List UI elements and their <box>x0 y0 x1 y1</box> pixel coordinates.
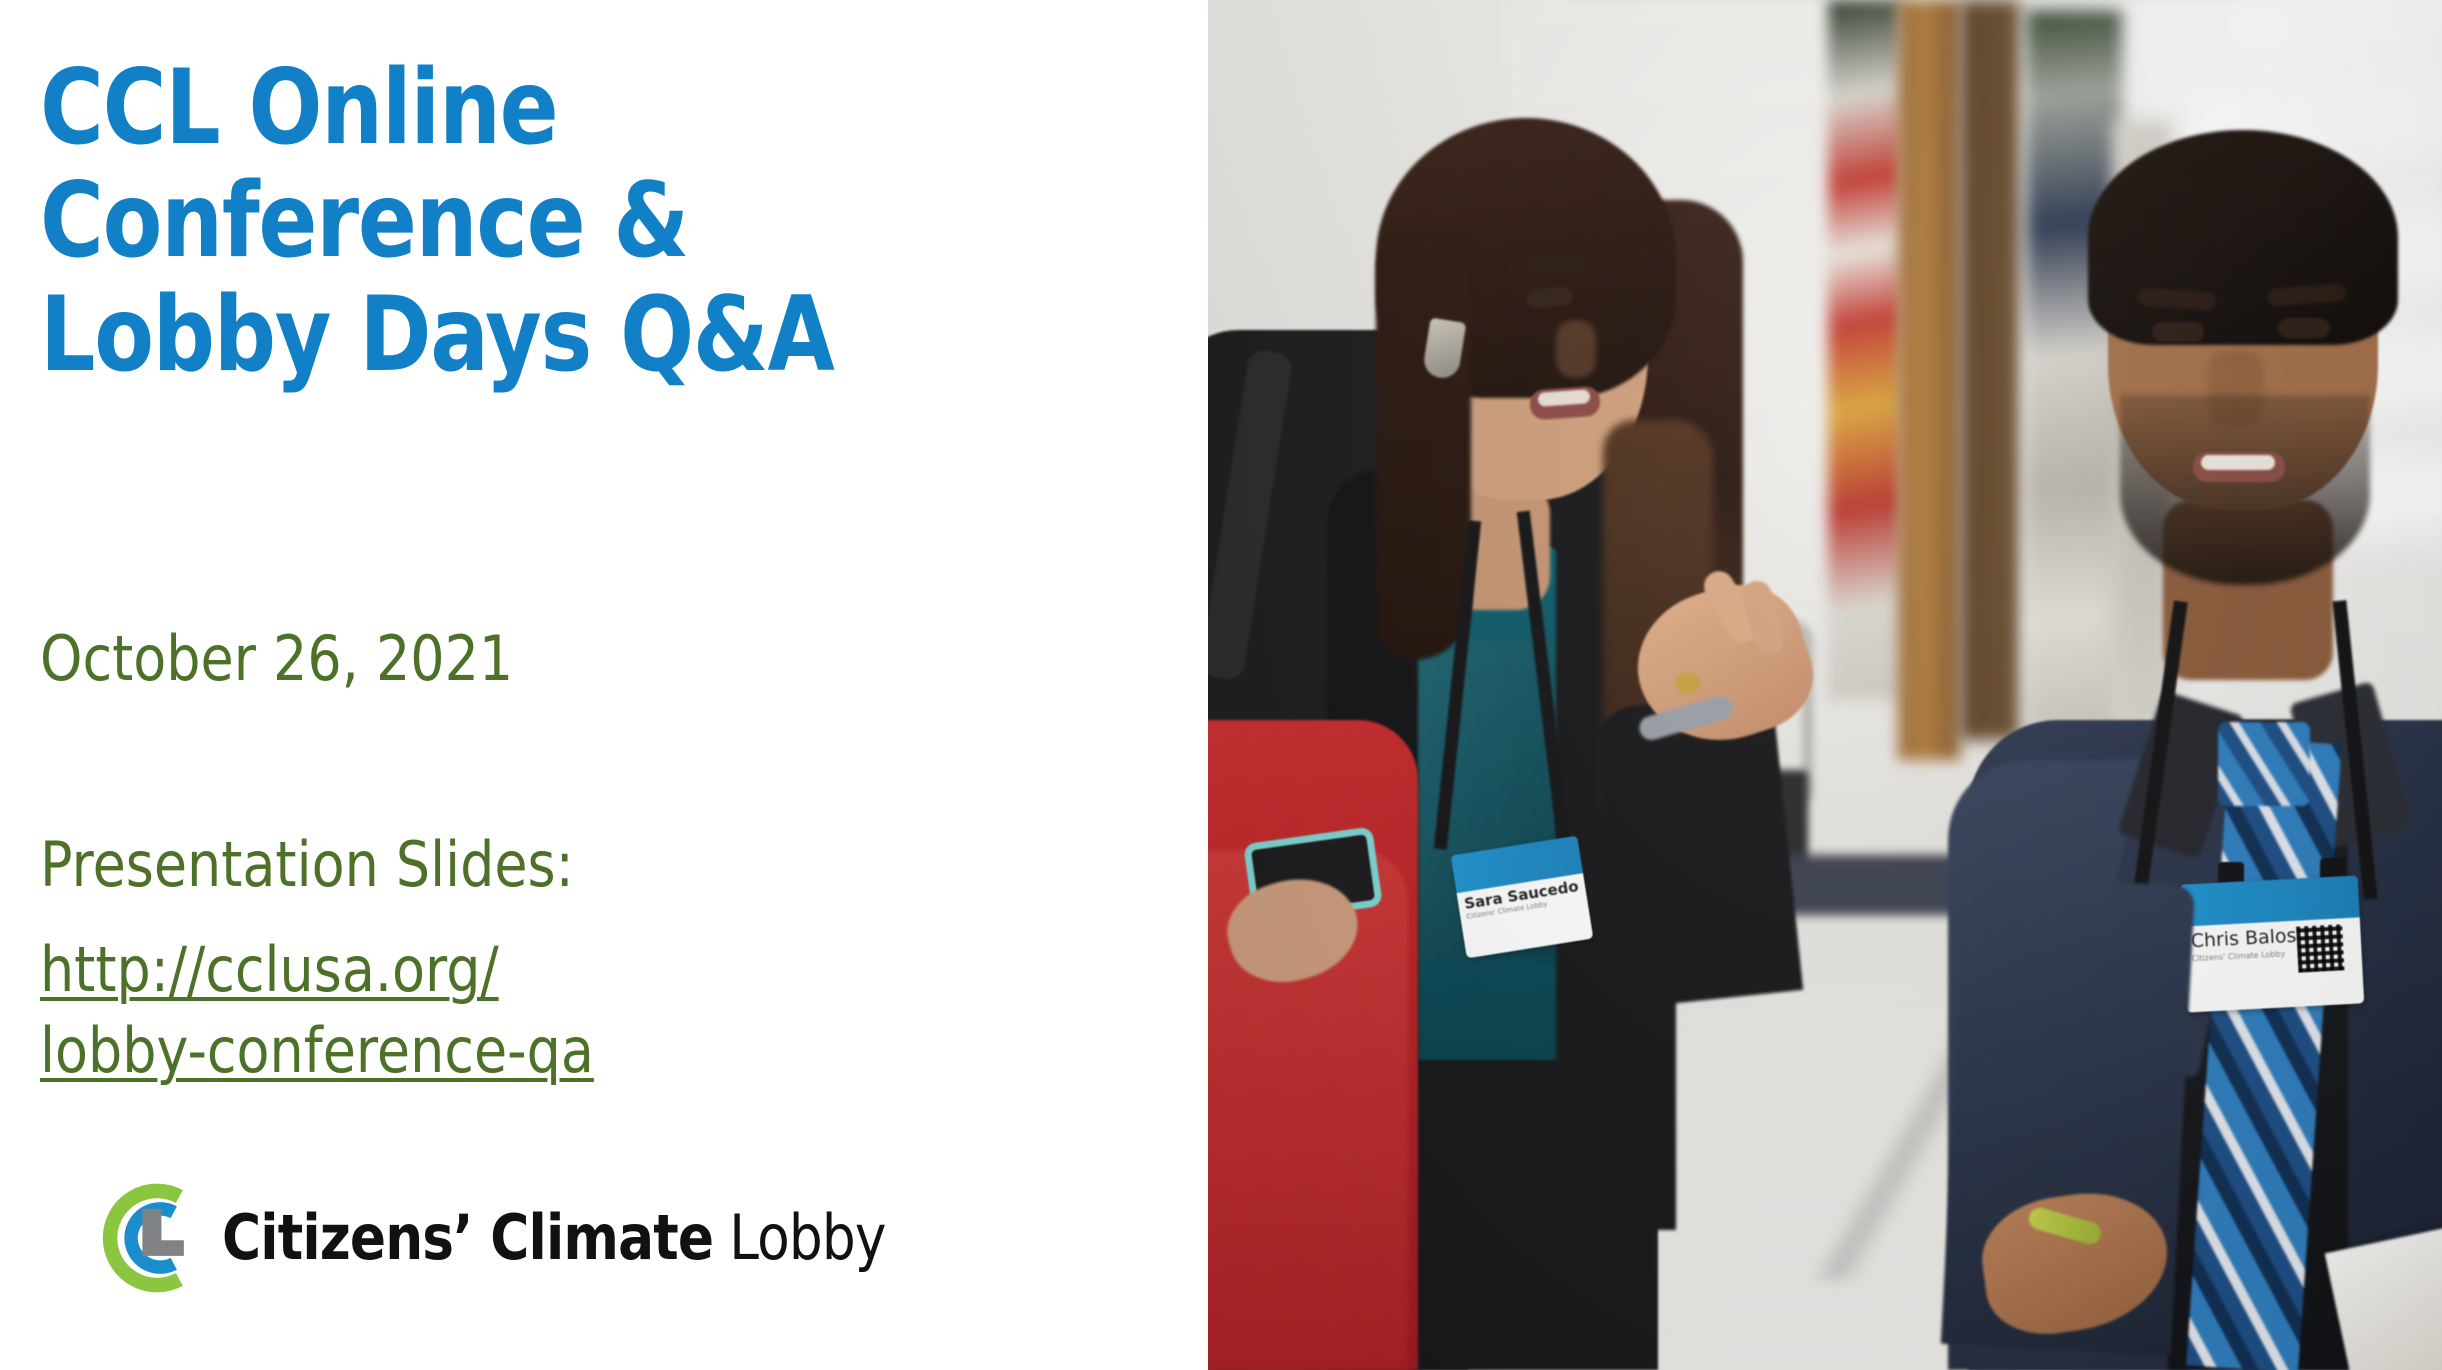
ccl-logo: Citizens’ Climate Lobby <box>92 1182 994 1294</box>
page-title: CCL Online Conference & Lobby Days Q&A <box>40 52 1012 392</box>
woman-ring <box>1676 672 1700 694</box>
left-text-panel: CCL Online Conference & Lobby Days Q&A O… <box>0 0 1208 1370</box>
qr-code-icon <box>2296 924 2344 972</box>
us-flag <box>1828 0 1902 700</box>
ccl-logo-wordmark: Citizens’ Climate Lobby <box>222 1207 886 1269</box>
man-beard <box>2120 395 2370 585</box>
woman-hair-left <box>1376 230 1471 660</box>
name-badge: Sara Saucedo Citizens' Climate Lobby <box>1451 836 1594 959</box>
name-badge: Chris Balos Citizens' Climate Lobby <box>2180 875 2364 1012</box>
url-line-2[interactable]: lobby-conference-qa <box>40 1011 594 1092</box>
wooden-door-frame <box>1898 0 1960 760</box>
door-panel <box>1960 0 2020 740</box>
presentation-slides-label: Presentation Slides: <box>40 828 574 901</box>
logo-name-bold: Citizens’ Climate <box>222 1201 713 1274</box>
event-date: October 26, 2021 <box>40 622 513 695</box>
man-eye <box>2152 322 2204 342</box>
logo-name-regular: Lobby <box>729 1201 885 1274</box>
woman-nose <box>1556 320 1596 378</box>
presentation-slides-link[interactable]: http://cclusa.org/ lobby-conference-qa <box>40 930 594 1091</box>
hero-photo: Sara Saucedo Citizens' Climate Lobby <box>1208 0 2442 1370</box>
woman-eye <box>1525 286 1572 308</box>
url-line-1[interactable]: http://cclusa.org/ <box>40 930 594 1011</box>
man-hair <box>2088 130 2398 345</box>
title-slide: CCL Online Conference & Lobby Days Q&A O… <box>0 0 2442 1370</box>
man-eye <box>2278 318 2330 338</box>
man-tie-knot <box>2218 722 2310 806</box>
woman-sleeve <box>1593 691 1803 1008</box>
ccl-logo-mark-icon <box>92 1182 204 1294</box>
man-teeth <box>2201 455 2275 470</box>
